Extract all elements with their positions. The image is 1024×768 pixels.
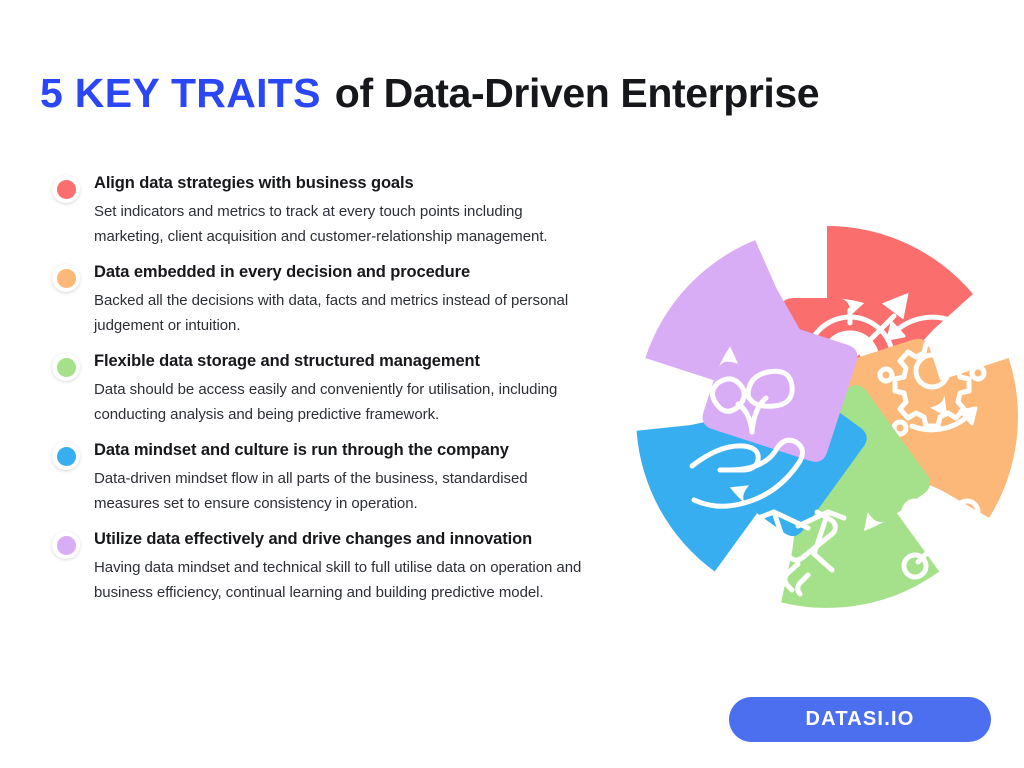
cycle-diagram-svg bbox=[628, 218, 1024, 616]
bullet-marker bbox=[52, 264, 80, 292]
bullet-dot-icon bbox=[57, 269, 76, 288]
trait-description: Data should be access easily and conveni… bbox=[94, 377, 594, 427]
trait-heading: Utilize data effectively and drive chang… bbox=[94, 528, 652, 550]
logo-text: DATASI.IO bbox=[806, 708, 915, 731]
trait-description: Having data mindset and technical skill … bbox=[94, 555, 594, 605]
trait-heading: Align data strategies with business goal… bbox=[94, 172, 652, 194]
page-title-accent: 5 KEY TRAITS bbox=[40, 70, 321, 116]
list-item: Data embedded in every decision and proc… bbox=[52, 261, 652, 338]
bullet-dot-icon bbox=[57, 536, 76, 555]
logo-badge[interactable]: DATASI.IO bbox=[729, 697, 991, 742]
list-item: Data mindset and culture is run through … bbox=[52, 439, 652, 516]
trait-heading: Data mindset and culture is run through … bbox=[94, 439, 652, 461]
trait-description: Backed all the decisions with data, fact… bbox=[94, 288, 574, 338]
bullet-marker bbox=[52, 442, 80, 470]
cycle-diagram bbox=[628, 218, 1024, 616]
bullet-marker bbox=[52, 175, 80, 203]
traits-list: Align data strategies with business goal… bbox=[52, 172, 652, 617]
trait-description: Data-driven mindset flow in all parts of… bbox=[94, 466, 594, 516]
list-item: Flexible data storage and structured man… bbox=[52, 350, 652, 427]
bullet-marker bbox=[52, 353, 80, 381]
trait-heading: Data embedded in every decision and proc… bbox=[94, 261, 652, 283]
list-item: Utilize data effectively and drive chang… bbox=[52, 528, 652, 605]
bullet-dot-icon bbox=[57, 447, 76, 466]
bullet-dot-icon bbox=[57, 358, 76, 377]
list-item: Align data strategies with business goal… bbox=[52, 172, 652, 249]
bullet-marker bbox=[52, 531, 80, 559]
trait-heading: Flexible data storage and structured man… bbox=[94, 350, 652, 372]
bullet-dot-icon bbox=[57, 180, 76, 199]
page-title-rest: of Data-Driven Enterprise bbox=[335, 70, 819, 116]
page-title: 5 KEY TRAITSof Data-Driven Enterprise bbox=[40, 66, 1024, 120]
trait-description: Set indicators and metrics to track at e… bbox=[94, 199, 594, 249]
